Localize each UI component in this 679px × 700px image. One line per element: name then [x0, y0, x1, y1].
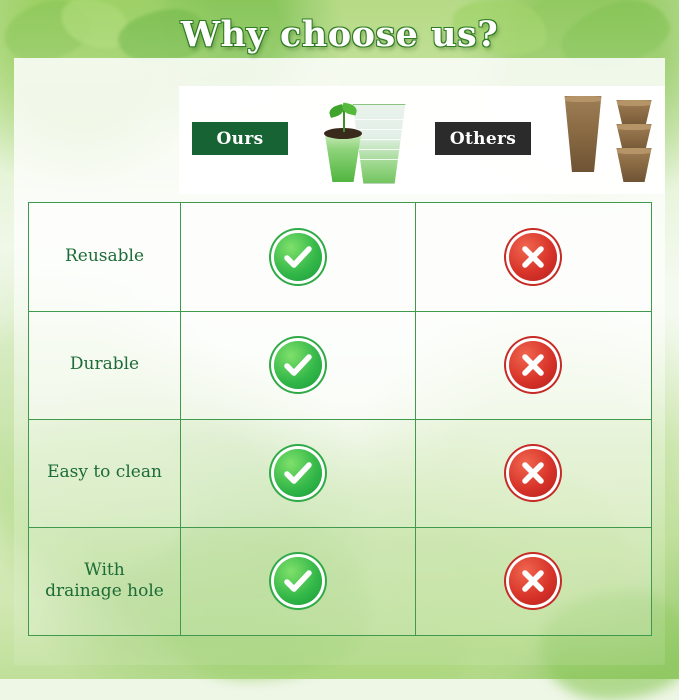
table-divider: [415, 203, 416, 635]
cross-icon: [509, 557, 557, 605]
table-divider: [29, 527, 651, 528]
sprout-icon: [335, 104, 353, 130]
ours-product-image: [319, 98, 411, 188]
others-product-image: [554, 94, 664, 188]
comparison-table: Reusable Durable Easy to clean: [28, 202, 652, 636]
others-mark-cell: [415, 203, 650, 311]
peat-pot-icon: [560, 96, 606, 172]
cross-icon: [509, 233, 557, 281]
feature-label: Durable: [29, 311, 180, 419]
green-pot-icon: [321, 132, 365, 182]
page-title: Why choose us?: [0, 14, 679, 55]
table-row: Reusable: [29, 203, 651, 311]
table-divider: [29, 419, 651, 420]
check-icon: [274, 557, 322, 605]
ours-mark-cell: [180, 203, 415, 311]
table-row: Durable: [29, 311, 651, 419]
others-mark-cell: [415, 419, 650, 527]
ours-mark-cell: [180, 419, 415, 527]
cross-icon: [509, 341, 557, 389]
feature-label: Easy to clean: [29, 419, 180, 527]
cross-icon: [509, 449, 557, 497]
table-divider: [180, 203, 181, 635]
others-mark-cell: [415, 311, 650, 419]
table-row: With drainage hole: [29, 527, 651, 635]
feature-label: Reusable: [29, 203, 180, 311]
table-divider: [29, 311, 651, 312]
others-mark-cell: [415, 527, 650, 635]
check-icon: [274, 233, 322, 281]
check-icon: [274, 341, 322, 389]
others-badge: Others: [435, 122, 531, 155]
check-icon: [274, 449, 322, 497]
ours-mark-cell: [180, 311, 415, 419]
feature-label: With drainage hole: [29, 527, 180, 635]
ours-badge: Ours: [192, 122, 288, 155]
header-cell-others: Others: [422, 86, 665, 194]
comparison-header: Ours Others: [179, 86, 665, 194]
ours-mark-cell: [180, 527, 415, 635]
table-row: Easy to clean: [29, 419, 651, 527]
header-cell-ours: Ours: [179, 86, 422, 194]
peat-pot-icon: [612, 148, 656, 182]
